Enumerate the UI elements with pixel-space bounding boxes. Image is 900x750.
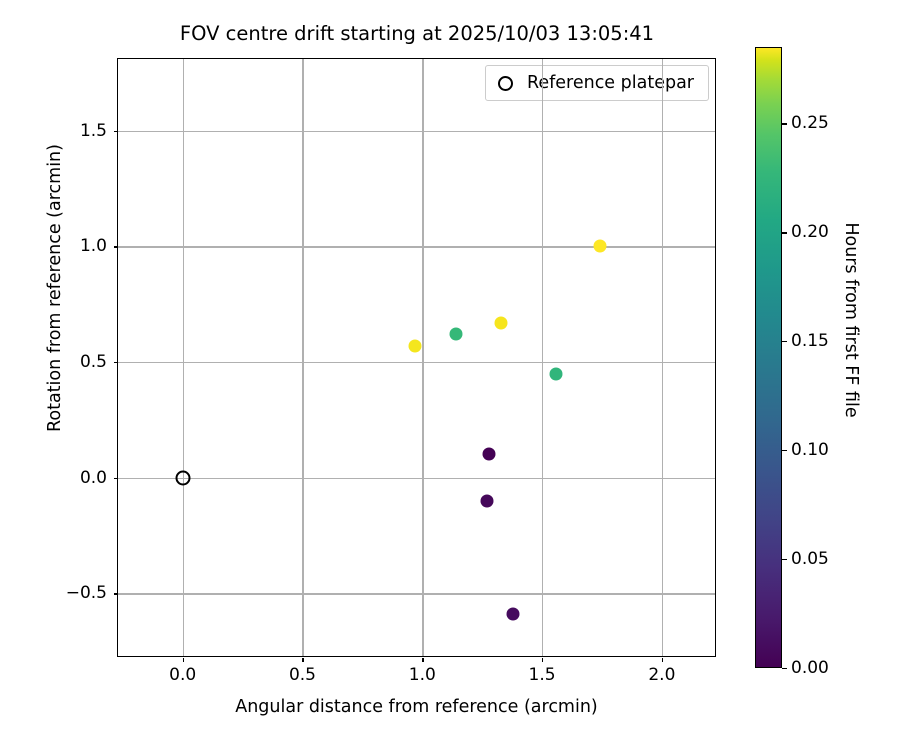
gridline-horizontal — [118, 362, 715, 363]
colorbar-tick-mark — [782, 450, 787, 451]
reference-platepar-marker-icon — [498, 76, 513, 91]
y-tick-label: 1.0 — [80, 236, 107, 256]
gridline-horizontal — [118, 246, 715, 247]
colorbar-tick-label: 0.05 — [791, 549, 829, 569]
y-tick-label: 0.5 — [80, 352, 107, 372]
x-tick-mark — [422, 658, 423, 662]
y-tick-label: 1.5 — [80, 121, 107, 141]
colorbar-tick-label: 0.00 — [791, 658, 829, 678]
y-tick-mark — [114, 362, 118, 363]
gridline-horizontal — [118, 593, 715, 594]
x-tick-mark — [662, 658, 663, 662]
gridline-vertical — [422, 59, 423, 656]
data-point — [507, 608, 520, 621]
reference-platepar-point — [175, 470, 190, 485]
data-point — [449, 328, 462, 341]
y-tick-mark — [114, 131, 118, 132]
y-tick-mark — [114, 478, 118, 479]
colorbar-tick-mark — [782, 559, 787, 560]
colorbar-tick-label: 0.25 — [791, 113, 829, 133]
x-tick-label: 1.0 — [409, 665, 436, 685]
colorbar-tick-mark — [782, 123, 787, 124]
gridline-vertical — [542, 59, 543, 656]
legend: Reference platepar — [485, 65, 709, 101]
gridline-horizontal — [118, 478, 715, 479]
gridline-vertical — [183, 59, 184, 656]
x-tick-label: 2.0 — [648, 665, 675, 685]
colorbar-tick-mark — [782, 668, 787, 669]
y-tick-mark — [114, 593, 118, 594]
figure-canvas: FOV centre drift starting at 2025/10/03 … — [0, 0, 900, 750]
x-tick-mark — [302, 658, 303, 662]
plot-axes: Reference platepar 0.00.51.01.52.0−0.50.… — [117, 58, 716, 657]
colorbar-gradient — [755, 47, 782, 668]
x-tick-label: 0.0 — [169, 665, 196, 685]
colorbar-tick-label: 0.15 — [791, 331, 829, 351]
y-tick-mark — [114, 246, 118, 247]
y-axis-label: Rotation from reference (arcmin) — [45, 0, 65, 588]
x-tick-mark — [542, 658, 543, 662]
data-point — [480, 494, 493, 507]
colorbar: 0.000.050.100.150.200.25 — [755, 47, 782, 668]
colorbar-tick-mark — [782, 341, 787, 342]
gridline-vertical — [662, 59, 663, 656]
legend-label: Reference platepar — [527, 73, 694, 93]
colorbar-label: Hours from first FF file — [841, 10, 861, 630]
x-axis-label: Angular distance from reference (arcmin) — [117, 697, 716, 717]
colorbar-tick-label: 0.10 — [791, 440, 829, 460]
data-point — [495, 316, 508, 329]
page-title: FOV centre drift starting at 2025/10/03 … — [117, 22, 717, 45]
gridline-vertical — [302, 59, 303, 656]
colorbar-tick-mark — [782, 232, 787, 233]
data-point — [593, 240, 606, 253]
gridline-horizontal — [118, 131, 715, 132]
colorbar-tick-label: 0.20 — [791, 222, 829, 242]
y-tick-label: 0.0 — [80, 468, 107, 488]
x-tick-label: 0.5 — [289, 665, 316, 685]
x-tick-label: 1.5 — [529, 665, 556, 685]
data-point — [483, 448, 496, 461]
data-point — [550, 367, 563, 380]
data-point — [409, 339, 422, 352]
x-tick-mark — [183, 658, 184, 662]
y-tick-label: −0.5 — [66, 583, 107, 603]
